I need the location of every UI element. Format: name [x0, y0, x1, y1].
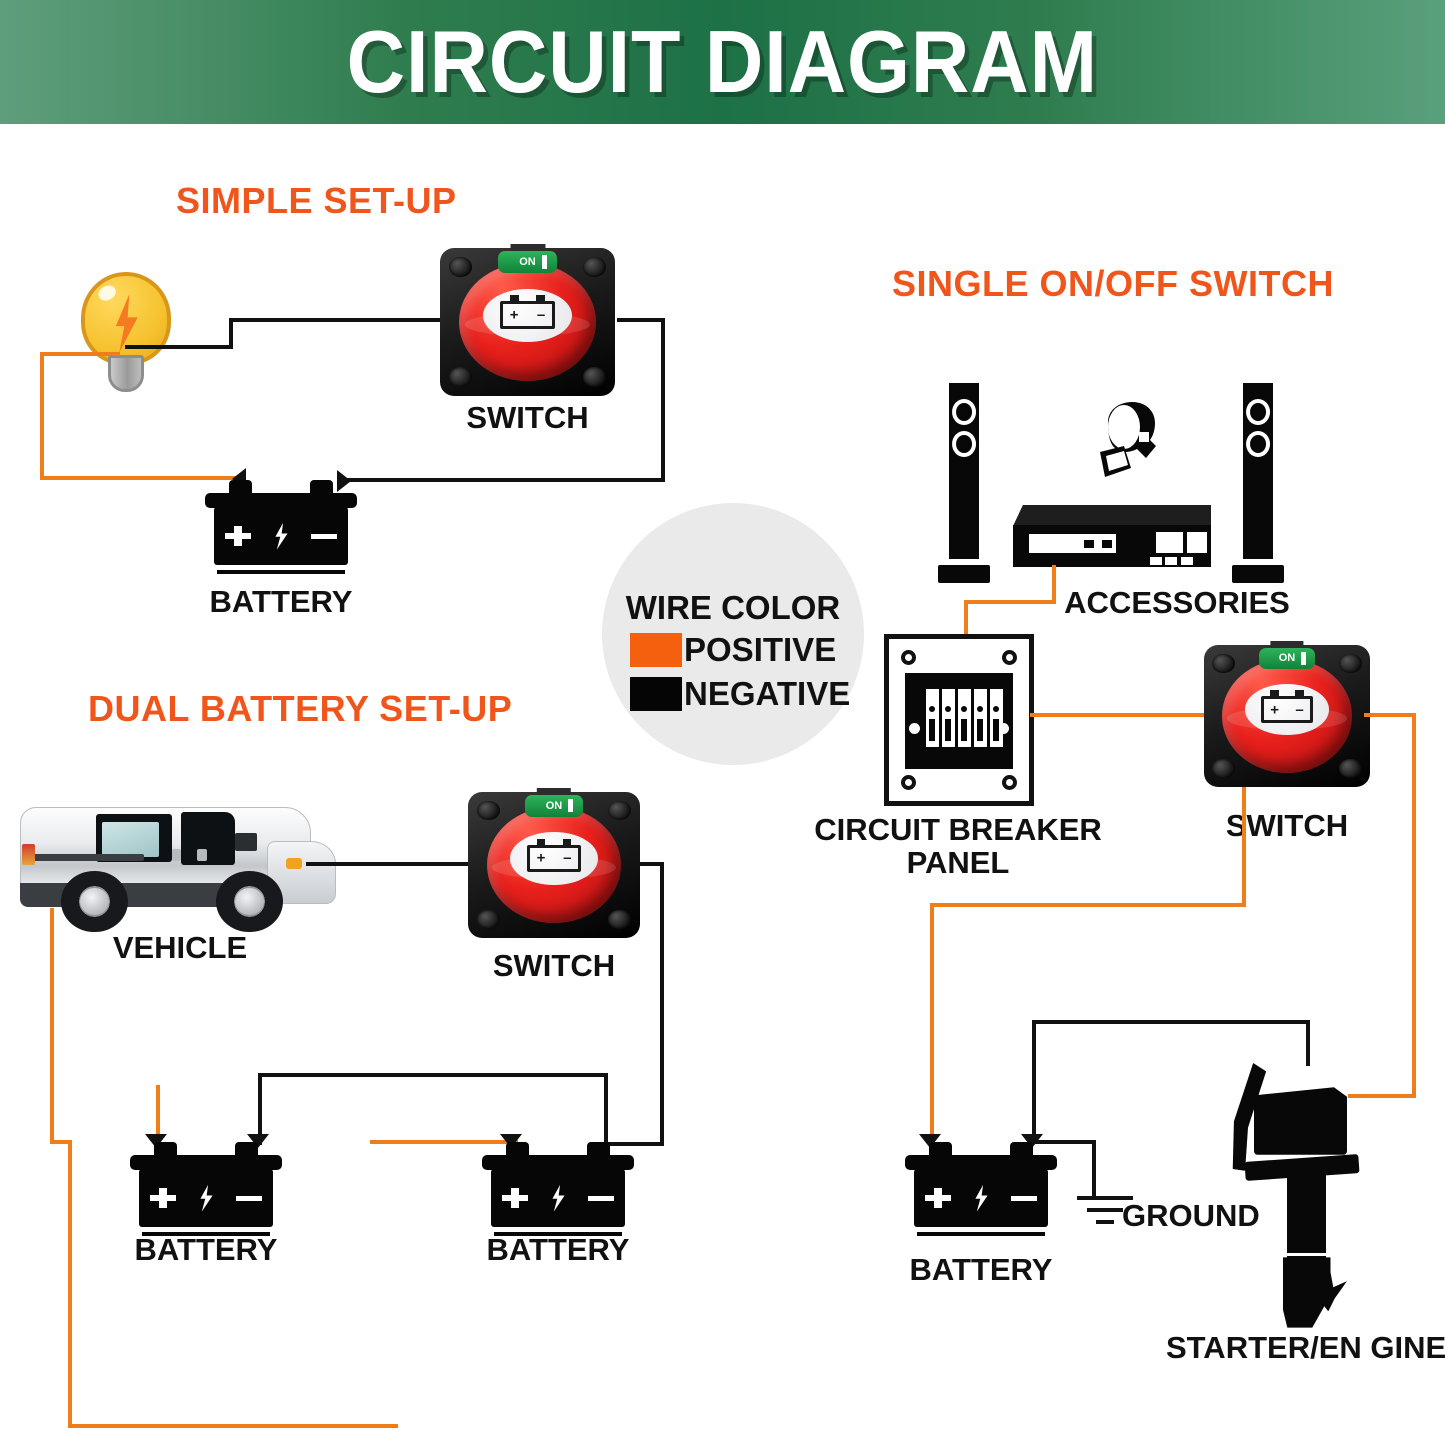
switch-minus-sign: – — [1295, 702, 1303, 717]
wire-bulb-to-switch-c — [229, 318, 451, 322]
engine-cowl — [1254, 1087, 1347, 1155]
breaker-switch-3[interactable] — [958, 689, 971, 747]
switch-faceplate: + – — [483, 289, 572, 342]
switch-screw-tl — [449, 257, 473, 277]
battery-plus-icon — [150, 1188, 177, 1208]
switch-plus-sign: + — [537, 851, 546, 866]
label-battery-dual-right: BATTERY — [472, 1232, 644, 1268]
label-switch-dual: SWITCH — [468, 948, 640, 984]
van-windshield — [181, 812, 235, 865]
label-breaker-panel: CIRCUIT BREAKER PANEL — [808, 814, 1108, 880]
section-title-single-switch: SINGLE ON/OFF SWITCH — [892, 263, 1334, 305]
wire-neg-to-engine — [1306, 1020, 1310, 1066]
camera-icon — [1075, 400, 1185, 485]
receiver-button-2 — [1102, 540, 1112, 549]
label-accessories: ACCESSORIES — [1062, 585, 1292, 621]
wire-van-to-switch — [306, 862, 476, 866]
wire-switch-to-battery-b — [930, 903, 934, 1143]
switch-screw-tr — [1339, 654, 1361, 673]
wire-bulb-positive-b — [40, 352, 44, 480]
breaker-screw-tl — [901, 650, 916, 665]
wire-bulb-to-switch-b — [229, 318, 233, 349]
speaker-driver-top — [952, 399, 976, 425]
wire-switch-to-engine-b — [1412, 713, 1416, 1098]
legend-swatch-negative — [630, 677, 682, 711]
battery-top — [482, 1155, 634, 1171]
wire-battery2-neg-drop — [604, 1073, 608, 1145]
switch-plus-sign: + — [510, 308, 519, 323]
circuit-breaker-panel[interactable] — [884, 634, 1034, 806]
page-title: CIRCUIT DIAGRAM — [347, 11, 1098, 113]
wire-breaker-to-switch — [1030, 713, 1208, 717]
battery-base — [217, 570, 345, 574]
wire-switch2-out-b — [660, 862, 664, 1146]
wire-switch-out-a — [617, 318, 665, 322]
wire-battery2-pos-b — [370, 1140, 374, 1144]
receiver-panel-1 — [1156, 532, 1184, 553]
battery-plus-icon — [502, 1188, 529, 1208]
battery-switch-simple[interactable]: ON + – — [440, 248, 615, 396]
battery-bolt-icon — [197, 1185, 214, 1212]
battery-body — [914, 1169, 1048, 1227]
switch-on-indicator: ON — [498, 251, 558, 273]
battery-top — [905, 1155, 1057, 1171]
wire-neg-right-a — [1032, 1020, 1036, 1144]
breaker-switch-5[interactable] — [990, 689, 1003, 747]
label-vehicle: VEHICLE — [60, 930, 300, 966]
speaker-driver-bottom — [952, 431, 976, 457]
switch-on-indicator: ON — [1259, 648, 1315, 669]
battery-plus-icon — [925, 1188, 952, 1208]
label-switch-single: SWITCH — [1204, 808, 1370, 844]
battery-base — [917, 1232, 1045, 1236]
wire-switch-to-battery-neg — [345, 478, 665, 482]
ground-bar-3 — [1096, 1220, 1114, 1224]
engine-gap-line — [1283, 1253, 1331, 1256]
wire-bulb-positive-a — [40, 352, 120, 356]
van-door-handle-2 — [197, 849, 206, 861]
van-glass-highlight — [102, 822, 159, 856]
van-wheel-front — [216, 871, 282, 932]
av-receiver-icon — [1013, 505, 1211, 567]
battery-dual-right — [482, 1140, 634, 1244]
breaker-inner-plate — [905, 673, 1013, 769]
receiver-button-1 — [1084, 540, 1094, 549]
legend-label-positive: POSITIVE — [684, 631, 836, 669]
switch-plus-sign: + — [1270, 702, 1279, 717]
breaker-screw-br — [1002, 775, 1017, 790]
breaker-screw-tr — [1002, 650, 1017, 665]
breaker-screw-bl — [901, 775, 916, 790]
outboard-engine-icon — [1233, 1063, 1383, 1333]
breaker-dot-left — [909, 723, 920, 734]
legend-label-negative: NEGATIVE — [684, 675, 850, 713]
battery-glyph-icon: + – — [500, 301, 555, 329]
battery-switch-single[interactable]: ON + – — [1204, 645, 1370, 787]
wire-color-legend: WIRE COLOR POSITIVE NEGATIVE — [602, 503, 864, 765]
section-title-dual-battery: DUAL BATTERY SET-UP — [88, 688, 512, 730]
wire-switch-bottom-a — [1242, 787, 1246, 907]
battery-glyph-icon: + – — [1261, 696, 1313, 723]
battery-simple — [205, 478, 357, 582]
battery-body — [139, 1169, 273, 1227]
legend-swatch-positive — [630, 633, 682, 667]
battery-top — [130, 1155, 282, 1171]
ground-bar-2 — [1087, 1208, 1123, 1212]
wire-accessories-b — [964, 600, 1056, 604]
battery-dual-left — [130, 1140, 282, 1244]
breaker-label-line1: CIRCUIT BREAKER — [808, 814, 1108, 847]
speaker-base — [938, 565, 990, 583]
battery-minus-icon — [1011, 1196, 1038, 1201]
page-header: CIRCUIT DIAGRAM — [0, 0, 1445, 124]
battery-bolt-icon — [549, 1185, 566, 1212]
wire-van-positive-a — [50, 908, 54, 1144]
battery-body — [491, 1169, 625, 1227]
light-bulb-icon — [72, 272, 180, 394]
legend-title: WIRE COLOR — [602, 589, 864, 627]
switch-minus-sign: – — [563, 851, 571, 866]
receiver-panel-2 — [1187, 532, 1207, 553]
label-starter-engine: STARTER/EN GINE — [1166, 1330, 1445, 1366]
battery-plus-icon — [225, 526, 252, 546]
battery-bolt-icon — [272, 523, 289, 550]
vehicle-van-icon — [14, 796, 330, 928]
van-mirror — [235, 833, 257, 851]
switch-screw-bl — [477, 910, 500, 930]
legend-row-negative: NEGATIVE — [630, 675, 850, 713]
switch-on-label: ON — [519, 256, 536, 268]
wire-accessories-to-breaker — [964, 600, 968, 638]
switch-screw-tr — [583, 257, 607, 277]
section-title-simple-setup: SIMPLE SET-UP — [176, 180, 457, 222]
bulb-base — [108, 355, 145, 392]
receiver-small-3 — [1181, 557, 1193, 564]
breaker-switch-2[interactable] — [942, 689, 955, 747]
receiver-top — [1013, 505, 1211, 526]
battery-single — [905, 1140, 1057, 1244]
speaker-right-icon — [1232, 383, 1284, 583]
van-door-handle-1 — [172, 849, 181, 861]
label-battery-dual-left: BATTERY — [120, 1232, 292, 1268]
receiver-small-1 — [1150, 557, 1162, 564]
label-battery-single: BATTERY — [895, 1252, 1067, 1288]
speaker-driver-top — [1246, 399, 1270, 425]
wire-neg-right-b — [1032, 1020, 1310, 1024]
wire-positive-down — [68, 1140, 72, 1428]
wire-positive-bottom — [68, 1424, 398, 1428]
legend-row-positive: POSITIVE — [630, 631, 836, 669]
switch-on-label: ON — [1279, 652, 1296, 664]
receiver-small-2 — [1165, 557, 1177, 564]
wire-neg-to-ground-b — [1092, 1140, 1096, 1198]
switch-screw-tl — [477, 801, 500, 821]
van-taillight — [22, 844, 35, 865]
battery-body — [214, 507, 348, 565]
battery-top — [205, 493, 357, 509]
switch-screw-tl — [1212, 654, 1234, 673]
battery-glyph-icon: + – — [527, 845, 581, 872]
battery-minus-icon — [311, 534, 338, 539]
van-side-trim — [30, 854, 144, 861]
switch-minus-sign: – — [537, 308, 545, 323]
wire-switch-to-engine-a — [1364, 713, 1416, 717]
switch-faceplate: + – — [1245, 684, 1330, 735]
label-battery-simple: BATTERY — [195, 584, 367, 620]
battery-minus-icon — [236, 1196, 263, 1201]
battery-minus-icon — [588, 1196, 615, 1201]
battery-bolt-icon — [972, 1185, 989, 1212]
engine-shaft — [1287, 1174, 1326, 1263]
switch-on-indicator: ON — [525, 795, 583, 817]
switch-faceplate: + – — [510, 832, 598, 885]
speaker-base — [1232, 565, 1284, 583]
wire-accessories-a — [1052, 565, 1056, 603]
speaker-left-icon — [938, 383, 990, 583]
breaker-switch-4[interactable] — [974, 689, 987, 747]
van-wheel-rear — [61, 871, 127, 932]
switch-on-label: ON — [546, 800, 563, 812]
wire-switch-out-b — [661, 318, 665, 482]
wire-battery-neg-bus — [258, 1073, 608, 1077]
speaker-driver-bottom — [1246, 431, 1270, 457]
van-indicator-light — [286, 858, 302, 869]
wire-switch-to-battery-a — [930, 903, 1246, 907]
breaker-label-line2: PANEL — [808, 847, 1108, 880]
wire-bulb-to-switch-a — [125, 345, 233, 349]
breaker-switch-1[interactable] — [926, 689, 939, 747]
label-switch-simple: SWITCH — [440, 400, 615, 436]
battery-switch-dual[interactable]: ON + – — [468, 792, 640, 938]
